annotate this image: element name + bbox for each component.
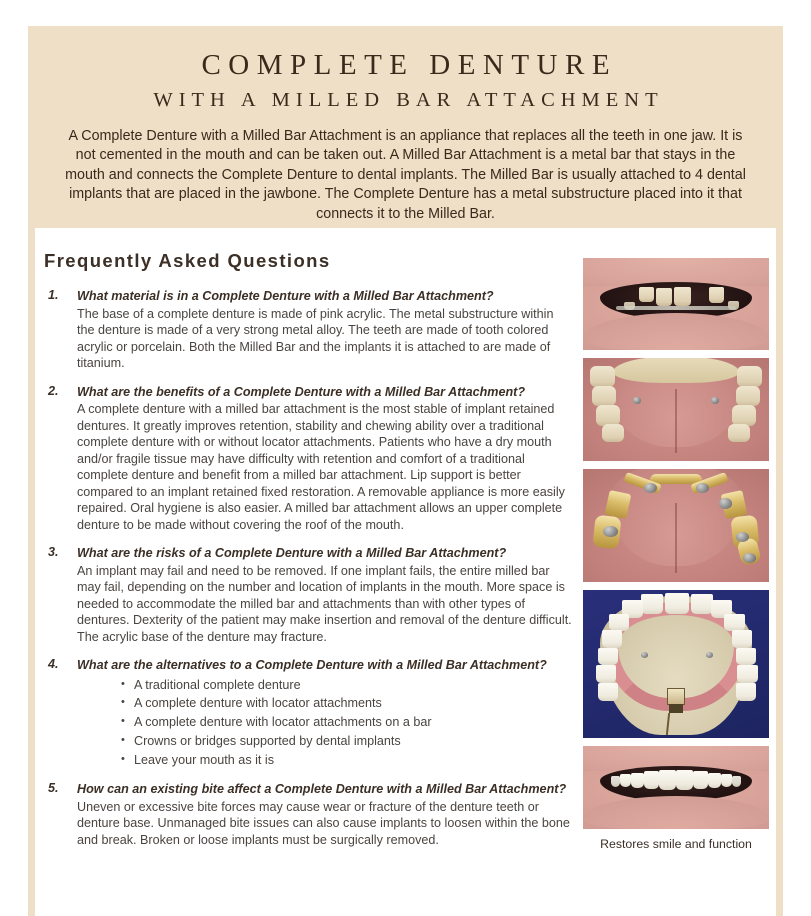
faq-item: 1. What material is in a Complete Dentur… <box>44 288 574 372</box>
faq-heading: Frequently Asked Questions <box>44 250 574 272</box>
faq-column: Frequently Asked Questions 1. What mater… <box>44 250 574 860</box>
alternatives-list: A traditional complete denture A complet… <box>77 676 574 770</box>
intro-paragraph: A Complete Denture with a Milled Bar Att… <box>58 127 753 225</box>
photo-denture-on-model <box>583 590 769 738</box>
list-item: A complete denture with locator attachme… <box>121 713 574 732</box>
faq-number: 5. <box>48 781 59 795</box>
faq-question: How can an existing bite affect a Comple… <box>77 781 574 798</box>
faq-question: What are the alternatives to a Complete … <box>77 657 574 674</box>
faq-number: 2. <box>48 384 59 398</box>
content-area: Frequently Asked Questions 1. What mater… <box>35 228 776 916</box>
list-item: Crowns or bridges supported by dental im… <box>121 732 574 751</box>
page-subtitle: WITH A MILLED BAR ATTACHMENT <box>58 88 753 114</box>
photo-upper-denture-in-mouth <box>583 358 769 461</box>
faq-item: 5. How can an existing bite affect a Com… <box>44 781 574 848</box>
faq-item: 3. What are the risks of a Complete Dent… <box>44 545 574 645</box>
list-item: A traditional complete denture <box>121 676 574 695</box>
photo-column: Restores smile and function <box>583 258 769 851</box>
faq-item: 4. What are the alternatives to a Comple… <box>44 657 574 769</box>
photo-caption: Restores smile and function <box>583 837 769 851</box>
faq-answer: A complete denture with a milled bar att… <box>77 401 574 533</box>
list-item: Leave your mouth as it is <box>121 751 574 770</box>
faq-answer: An implant may fail and need to be remov… <box>77 563 574 646</box>
photo-milled-bar-on-implants <box>583 469 769 582</box>
photo-mouth-missing-teeth <box>583 258 769 350</box>
page-title: COMPLETE DENTURE <box>58 50 753 82</box>
faq-answer: Uneven or excessive bite forces may caus… <box>77 799 574 849</box>
faq-number: 4. <box>48 657 59 671</box>
document-page: COMPLETE DENTURE WITH A MILLED BAR ATTAC… <box>0 0 811 916</box>
faq-answer: The base of a complete denture is made o… <box>77 306 574 372</box>
faq-question: What material is in a Complete Denture w… <box>77 288 574 305</box>
faq-item: 2. What are the benefits of a Complete D… <box>44 384 574 534</box>
faq-number: 3. <box>48 545 59 559</box>
photo-restored-smile <box>583 746 769 829</box>
list-item: A complete denture with locator attachme… <box>121 694 574 713</box>
faq-question: What are the risks of a Complete Denture… <box>77 545 574 562</box>
faq-question: What are the benefits of a Complete Dent… <box>77 384 574 401</box>
header-band: COMPLETE DENTURE WITH A MILLED BAR ATTAC… <box>28 26 783 228</box>
faq-number: 1. <box>48 288 59 302</box>
